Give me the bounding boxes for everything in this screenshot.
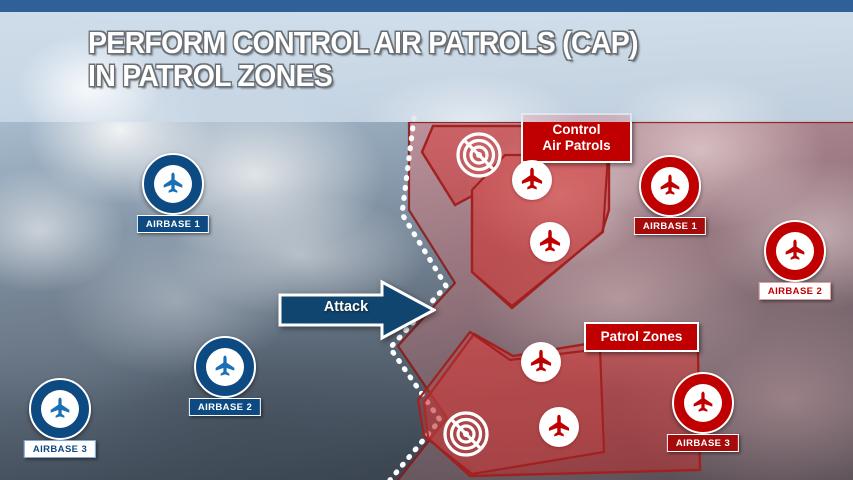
airbase-disc[interactable] <box>29 378 91 440</box>
jet-badge <box>651 167 689 205</box>
jet-badge <box>41 390 79 428</box>
fighter-jet-icon <box>545 413 573 441</box>
airbase-label: AIRBASE 2 <box>759 282 831 300</box>
airbase-label: AIRBASE 1 <box>137 215 209 233</box>
page-title: PERFORM CONTROL AIR PATROLS (CAP) IN PAT… <box>88 26 732 92</box>
airbase-disc[interactable] <box>639 155 701 217</box>
fighter-jet-icon <box>212 354 238 380</box>
fighter-jet-icon <box>160 171 186 197</box>
top-accent-bar <box>0 0 853 12</box>
fighter-jet-icon <box>657 173 683 199</box>
marker-hostile-airbase-3[interactable]: AIRBASE 3 <box>672 372 734 434</box>
marker-friendly-airbase-2[interactable]: AIRBASE 2 <box>194 336 256 398</box>
marker-hostile-airbase-2[interactable]: AIRBASE 2 <box>764 220 826 282</box>
jet-badge <box>154 165 192 203</box>
fighter-jet-icon <box>47 396 73 422</box>
airbase-label: AIRBASE 3 <box>667 434 739 452</box>
attack-arrow-label: Attack <box>296 299 396 315</box>
airbase-label: AIRBASE 2 <box>189 398 261 416</box>
radar-target-icon-north[interactable] <box>456 132 502 178</box>
fighter-jet-icon <box>782 238 808 264</box>
marker-hostile-airbase-1[interactable]: AIRBASE 1 <box>639 155 701 217</box>
fighter-jet-icon <box>527 348 555 376</box>
cap-aircraft-south-2[interactable] <box>539 407 579 447</box>
fighter-jet-icon <box>518 166 546 194</box>
cap-aircraft-south-1[interactable] <box>521 342 561 382</box>
slide-canvas: Control Air Patrols Patrol Zones Attack … <box>0 0 853 480</box>
cap-aircraft-north-2[interactable] <box>530 222 570 262</box>
radar-target-icon-south[interactable] <box>443 411 489 457</box>
airbase-disc[interactable] <box>764 220 826 282</box>
fighter-jet-icon <box>690 390 716 416</box>
fighter-jet-icon <box>536 228 564 256</box>
airbase-label: AIRBASE 1 <box>634 217 706 235</box>
airbase-disc[interactable] <box>194 336 256 398</box>
airbase-disc[interactable] <box>142 153 204 215</box>
jet-badge <box>684 384 722 422</box>
airbase-disc[interactable] <box>672 372 734 434</box>
cap-aircraft-north-1[interactable] <box>512 160 552 200</box>
marker-friendly-airbase-1[interactable]: AIRBASE 1 <box>142 153 204 215</box>
marker-friendly-airbase-3[interactable]: AIRBASE 3 <box>29 378 91 440</box>
jet-badge <box>206 348 244 386</box>
jet-badge <box>776 232 814 270</box>
airbase-label: AIRBASE 3 <box>24 440 96 458</box>
callout-patrol-zones[interactable]: Patrol Zones <box>584 322 699 352</box>
